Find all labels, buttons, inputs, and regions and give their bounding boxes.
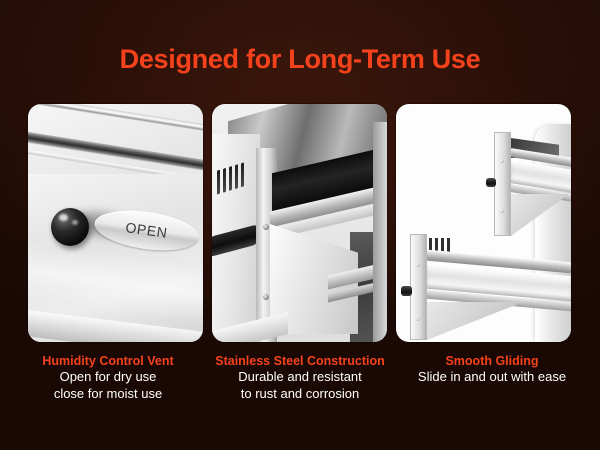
caption-line: Open for dry use — [16, 369, 200, 386]
drawer-support-brace — [427, 302, 523, 340]
feature-image-row: OPEN — [28, 104, 572, 342]
screw-icon — [263, 294, 269, 300]
feature-caption-humidity-control-vent: Humidity Control Vent Open for dry use c… — [12, 353, 204, 402]
screw-icon — [263, 224, 269, 230]
drawer-faceplate — [494, 132, 511, 236]
drawer-faceplate — [410, 234, 427, 340]
caption-title: Smooth Gliding — [400, 353, 584, 369]
feature-image-stainless-steel-construction — [212, 104, 387, 342]
upper-drawer-assembly — [494, 132, 571, 236]
caption-line: Durable and resistant — [208, 369, 392, 386]
screw-icon — [500, 159, 504, 163]
caption-title: Humidity Control Vent — [16, 353, 200, 369]
caption-line: Slide in and out with ease — [400, 369, 584, 386]
screw-icon — [416, 263, 420, 267]
cabinet-right-edge — [373, 122, 387, 342]
caption-line: to rust and corrosion — [208, 386, 392, 403]
page-title: Designed for Long-Term Use — [0, 44, 600, 75]
feature-caption-stainless-steel-construction: Stainless Steel Construction Durable and… — [204, 353, 396, 402]
feature-caption-smooth-gliding: Smooth Gliding Slide in and out with eas… — [396, 353, 588, 402]
drawer-knob-icon — [401, 286, 412, 296]
caption-line: close for moist use — [16, 386, 200, 403]
feature-image-smooth-gliding — [396, 104, 571, 342]
screw-icon — [500, 209, 504, 213]
feature-image-humidity-control-vent: OPEN — [28, 104, 203, 342]
lower-drawer-assembly — [410, 234, 560, 340]
drawer-support-brace — [511, 194, 569, 236]
product-feature-banner: Designed for Long-Term Use OPEN — [0, 0, 600, 450]
door-seam-top — [28, 104, 203, 138]
screw-icon — [416, 317, 420, 321]
drawer-knob-icon — [486, 178, 496, 187]
vent-knob-icon — [51, 208, 89, 246]
feature-caption-row: Humidity Control Vent Open for dry use c… — [12, 353, 588, 402]
caption-title: Stainless Steel Construction — [208, 353, 392, 369]
